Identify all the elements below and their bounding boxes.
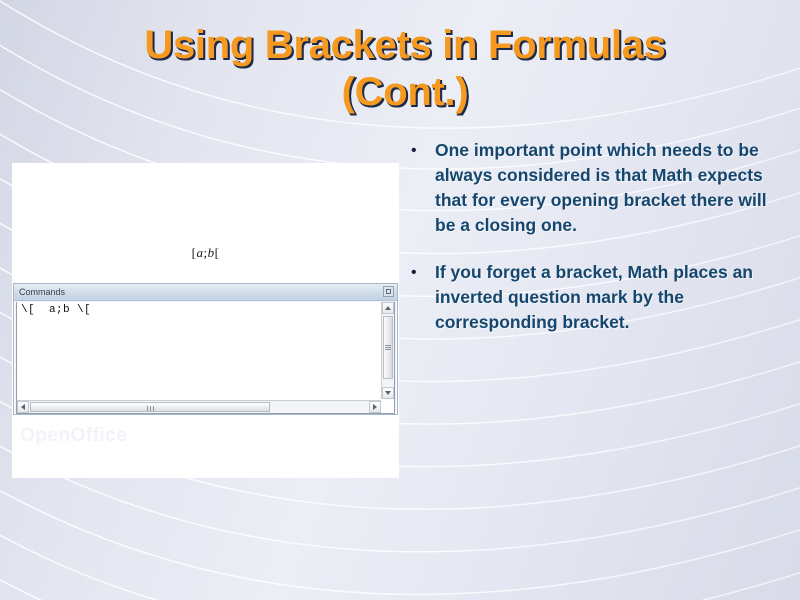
- list-item: • One important point which needs to be …: [405, 138, 783, 238]
- scroll-grip-icon: [385, 344, 391, 351]
- bullet-marker-icon: •: [405, 260, 435, 285]
- bullet-text: One important point which needs to be al…: [435, 138, 783, 238]
- watermark-ghost-text: OpenOffice: [20, 425, 127, 447]
- commands-input-text[interactable]: \[ a;b \[: [21, 304, 91, 316]
- scroll-down-arrow[interactable]: [382, 387, 394, 399]
- commands-window: Commands \[ a;b \[: [13, 283, 398, 415]
- formula-var-b: b: [208, 245, 215, 260]
- scroll-grip-icon: [146, 398, 155, 416]
- commands-window-title: Commands: [14, 284, 65, 300]
- presentation-slide: Using Brackets in Formulas (Cont.) [a;b[…: [0, 0, 800, 600]
- triangle-right-icon: [373, 404, 377, 410]
- formula-close-bracket: [: [215, 245, 220, 260]
- triangle-down-icon: [385, 391, 391, 395]
- vertical-scrollbar[interactable]: [381, 302, 394, 399]
- vertical-scroll-thumb[interactable]: [383, 316, 393, 379]
- dock-undock-icon[interactable]: [383, 286, 394, 297]
- bullet-marker-icon: •: [405, 138, 435, 163]
- page-title: Using Brackets in Formulas (Cont.): [60, 22, 750, 116]
- dock-undock-icon-inner: [386, 289, 391, 294]
- slide-title-block: Using Brackets in Formulas (Cont.): [60, 22, 750, 116]
- scroll-right-arrow[interactable]: [369, 401, 381, 413]
- list-item: • If you forget a bracket, Math places a…: [405, 260, 783, 335]
- horizontal-scrollbar[interactable]: [17, 400, 381, 413]
- bullet-text: If you forget a bracket, Math places an …: [435, 260, 783, 335]
- embedded-screenshot-image: [a;b[ OpenOffice Commands \[ a;b \[: [12, 163, 399, 478]
- triangle-up-icon: [385, 306, 391, 310]
- bullet-list: • One important point which needs to be …: [405, 138, 783, 357]
- scroll-up-arrow[interactable]: [382, 302, 394, 314]
- commands-editor-area[interactable]: \[ a;b \[: [16, 302, 395, 414]
- commands-titlebar[interactable]: Commands: [14, 284, 397, 301]
- triangle-left-icon: [21, 404, 25, 410]
- rendered-formula: [a;b[: [12, 245, 399, 261]
- scroll-left-arrow[interactable]: [17, 401, 29, 413]
- horizontal-scroll-thumb[interactable]: [30, 402, 270, 412]
